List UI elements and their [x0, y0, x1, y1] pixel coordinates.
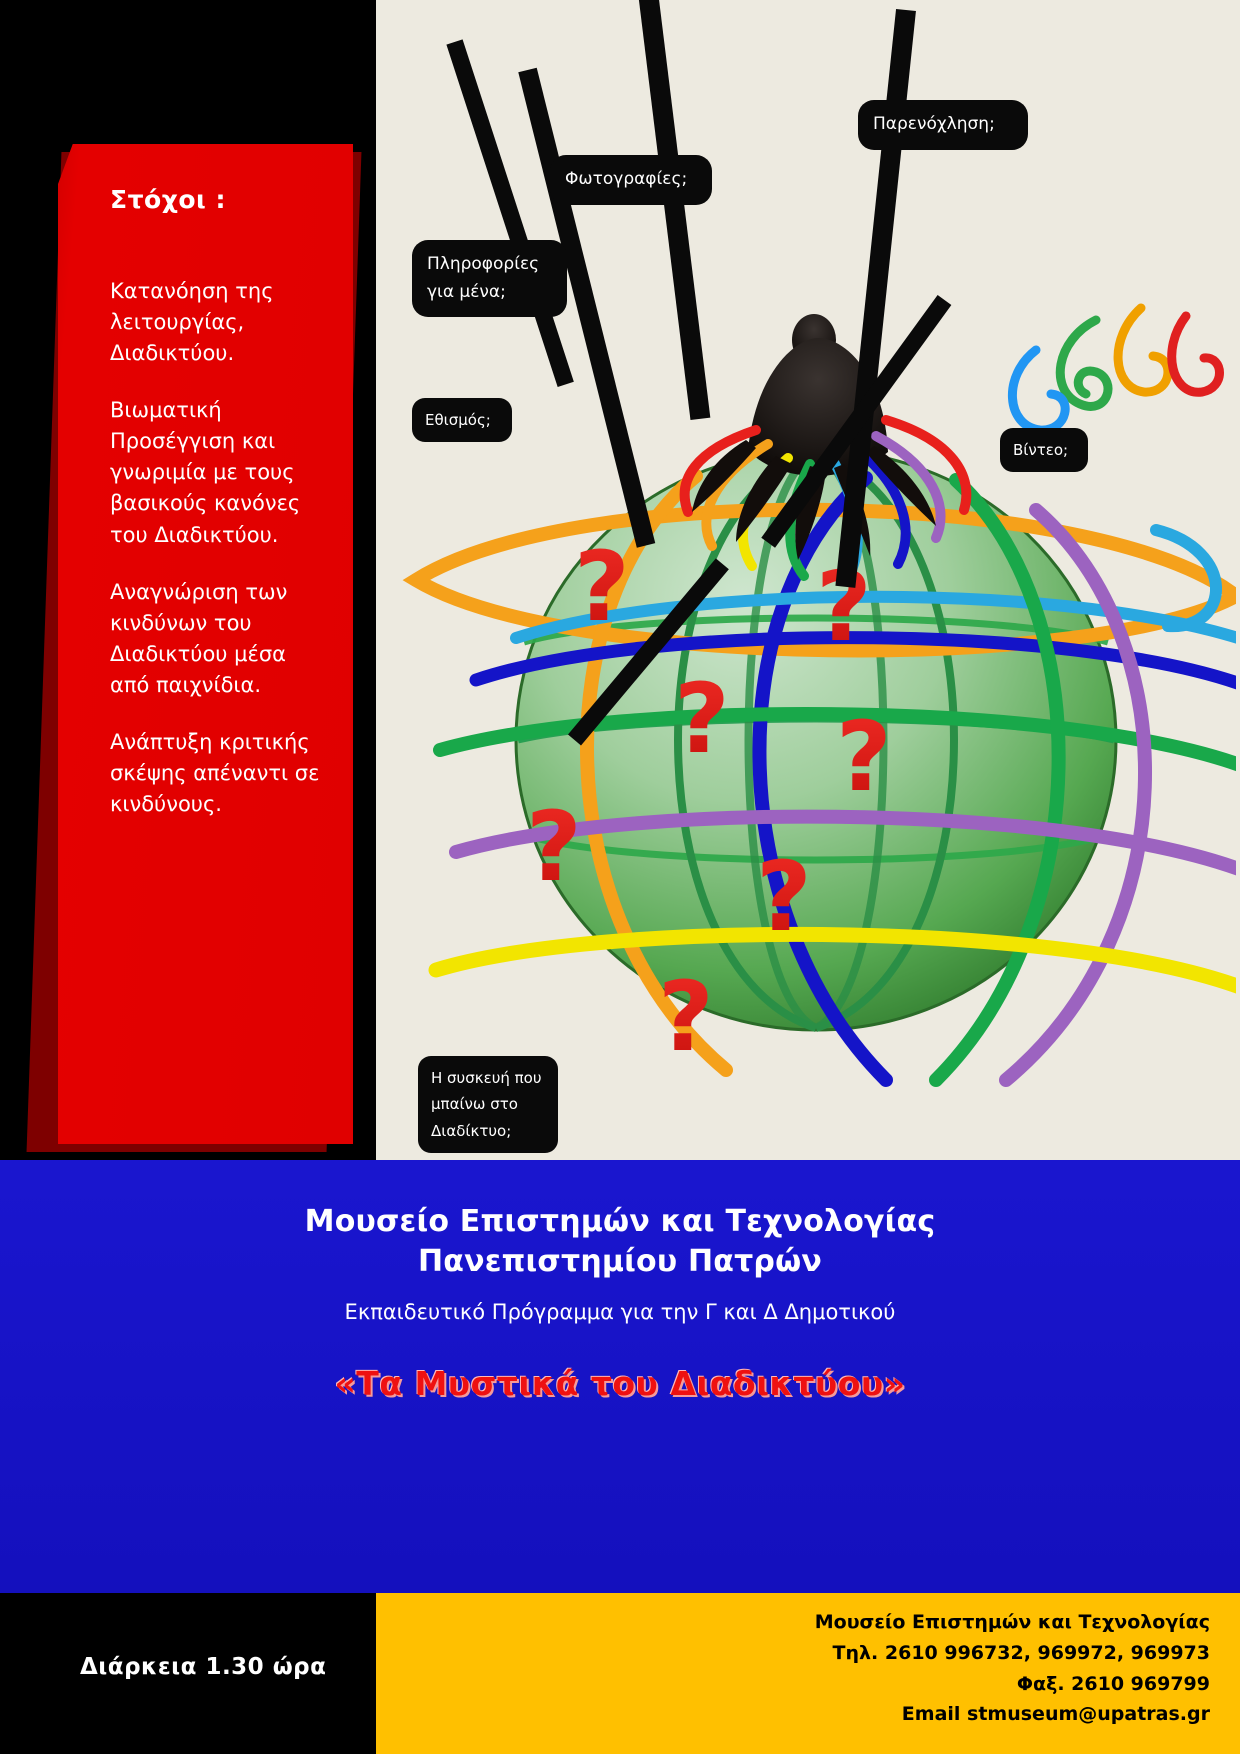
- question-mark: ?: [574, 531, 630, 643]
- poster-root: ? ? ? ? ? ? ? Εθισμός; Πληροφορίες για μ…: [0, 0, 1240, 1754]
- goal-item: Βιωματική Προσέγγιση και γνωριμία με του…: [110, 395, 325, 550]
- contact-email: Email stmuseum@upatras.gr: [376, 1699, 1210, 1730]
- question-mark: ?: [526, 791, 582, 903]
- bubble-info-about-me: Πληροφορίες για μένα;: [412, 240, 567, 317]
- goal-item: Ανάπτυξη κριτικής σκέψης απέναντι σε κιν…: [110, 727, 325, 820]
- goal-item: Κατανόηση της λειτουργίας, Διαδικτύου.: [110, 276, 325, 369]
- question-mark: ?: [836, 701, 892, 813]
- program-title: «Τα Μυστικά του Διαδικτύου»: [0, 1364, 1240, 1403]
- bubble-video: Βίντεο;: [1000, 428, 1088, 472]
- contact-phone: Τηλ. 2610 996732, 969972, 969973: [376, 1638, 1210, 1669]
- bubble-photos: Φωτογραφίες;: [550, 155, 712, 205]
- contact-fax: Φαξ. 2610 969799: [376, 1669, 1210, 1700]
- question-mark: ?: [658, 961, 714, 1073]
- curly-ribbons-back: [1012, 308, 1219, 430]
- question-mark: ?: [674, 663, 730, 775]
- duration-label: Διάρκεια 1.30 ώρα: [80, 1654, 326, 1680]
- contact-name: Μουσείο Επιστημών και Τεχνολογίας: [376, 1607, 1210, 1638]
- globe-illustration: ? ? ? ? ? ? ?: [396, 280, 1236, 1110]
- bubble-harassment: Παρενόχληση;: [858, 100, 1028, 150]
- question-mark: ?: [756, 841, 812, 953]
- globe-svg: ? ? ? ? ? ? ?: [396, 280, 1236, 1110]
- goal-item: Αναγνώριση των κινδύνων του Διαδικτύου μ…: [110, 577, 325, 701]
- museum-banner: Μουσείο Επιστημών και Τεχνολογίας Πανεπι…: [0, 1160, 1240, 1593]
- goals-title: Στόχοι :: [110, 185, 325, 214]
- illustration-stage: ? ? ? ? ? ? ?: [376, 0, 1240, 1160]
- bubble-device: Η συσκευή που μπαίνω στο Διαδίκτυο;: [418, 1056, 558, 1153]
- contact-box: Μουσείο Επιστημών και Τεχνολογίας Τηλ. 2…: [376, 1593, 1240, 1754]
- program-audience: Εκπαιδευτικό Πρόγραμμα για την Γ και Δ Δ…: [0, 1300, 1240, 1324]
- bubble-addiction: Εθισμός;: [412, 398, 512, 442]
- goals-content: Στόχοι : Κατανόηση της λειτουργίας, Διαδ…: [110, 185, 325, 846]
- museum-title: Μουσείο Επιστημών και Τεχνολογίας Πανεπι…: [0, 1160, 1240, 1282]
